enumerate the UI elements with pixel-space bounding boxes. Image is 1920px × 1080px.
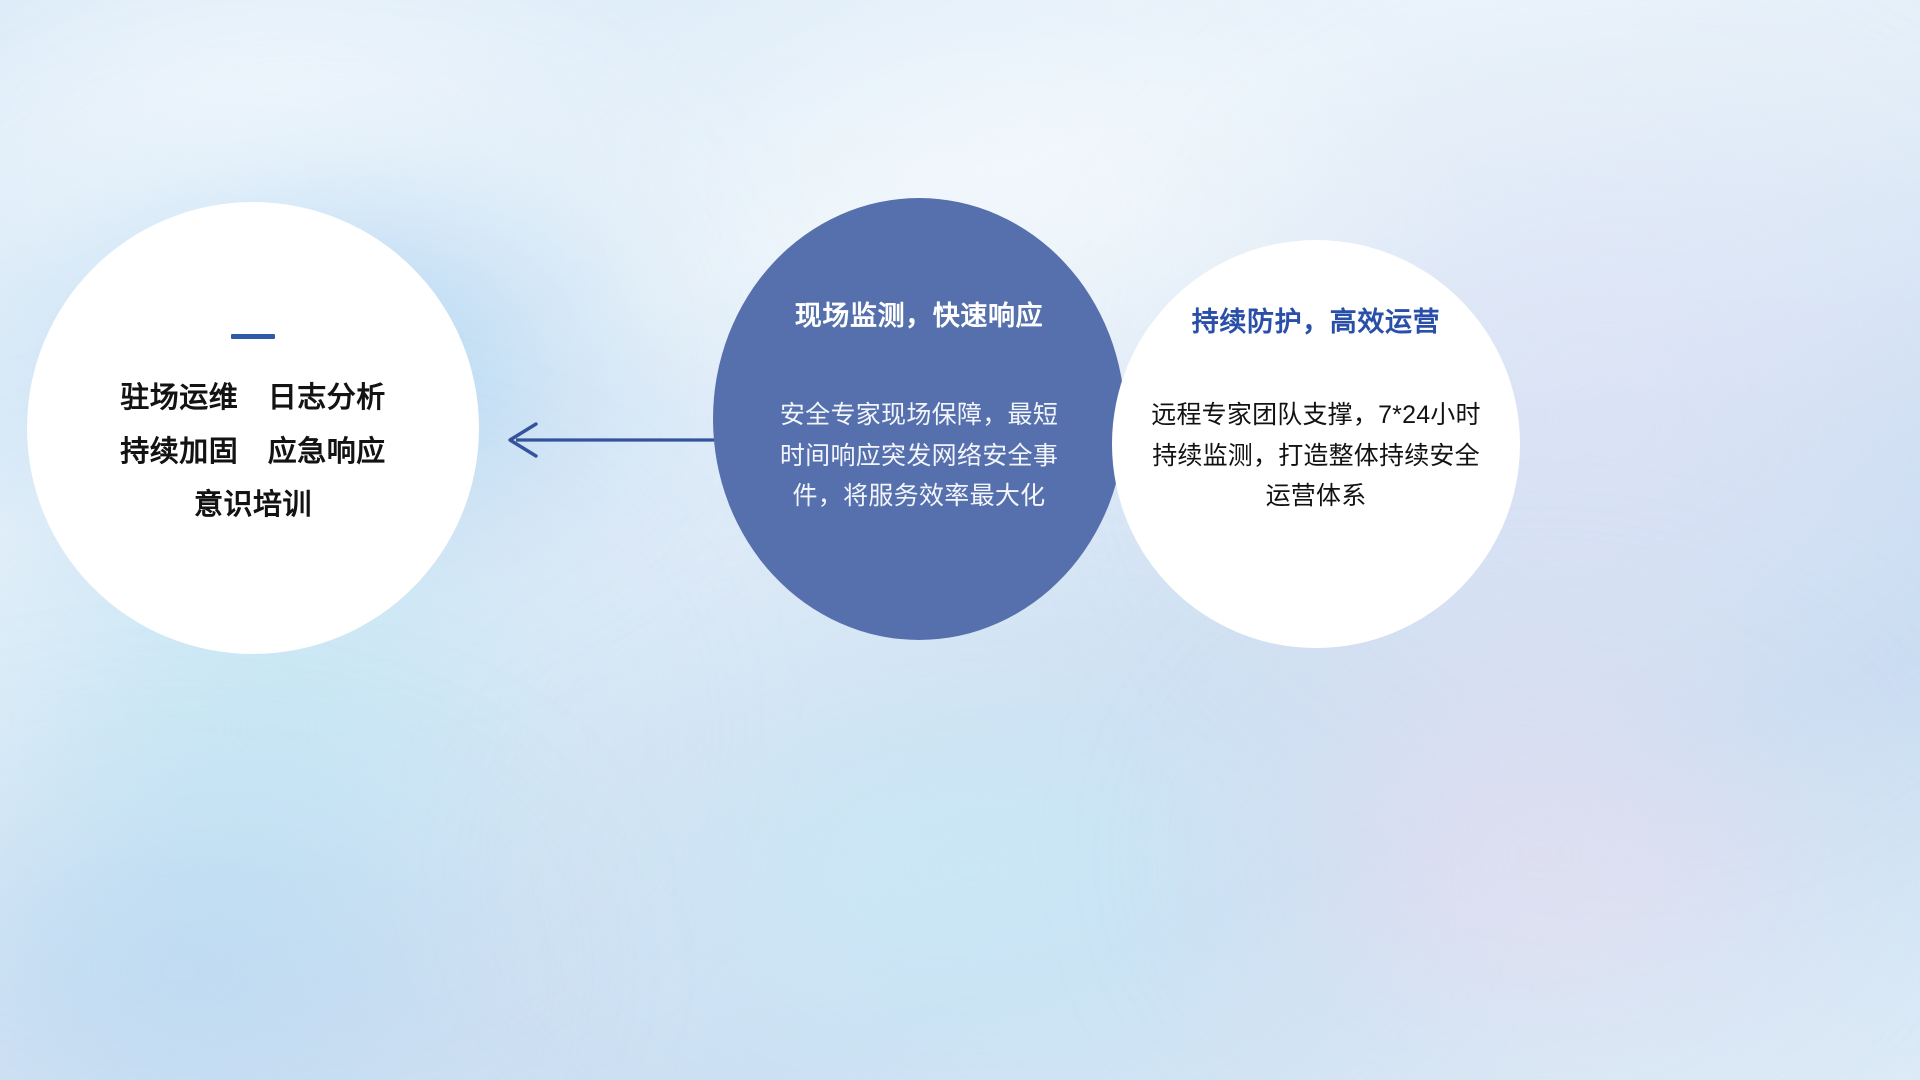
card-middle-body: 安全专家现场保障，最短时间响应突发网络安全事件，将服务效率最大化 — [771, 395, 1067, 517]
divider-dash — [231, 334, 275, 339]
card-middle-title: 现场监测，快速响应 — [795, 294, 1043, 333]
card-right-continuous-protection: 持续防护，高效运营 远程专家团队支撑，7*24小时持续监测，打造整体持续安全运营… — [1112, 240, 1520, 648]
capability-row: 驻场运维 日志分析 — [120, 383, 386, 415]
card-middle-onsite-monitoring: 现场监测，快速响应 安全专家现场保障，最短时间响应突发网络安全事件，将服务效率最… — [713, 198, 1125, 640]
capability-row: 意识培训 — [194, 490, 312, 522]
card-right-title: 持续防护，高效运营 — [1192, 300, 1440, 339]
slide-canvas: 驻场运维 日志分析 持续加固 应急响应 意识培训 现场监测，快速响应 安全专家现… — [0, 0, 1920, 1080]
card-left-capabilities: 驻场运维 日志分析 持续加固 应急响应 意识培训 — [27, 202, 479, 654]
capability-row: 持续加固 应急响应 — [120, 437, 386, 469]
card-right-body: 远程专家团队支撑，7*24小时持续监测，打造整体持续安全运营体系 — [1140, 395, 1492, 517]
capability-list: 驻场运维 日志分析 持续加固 应急响应 意识培训 — [120, 383, 386, 523]
